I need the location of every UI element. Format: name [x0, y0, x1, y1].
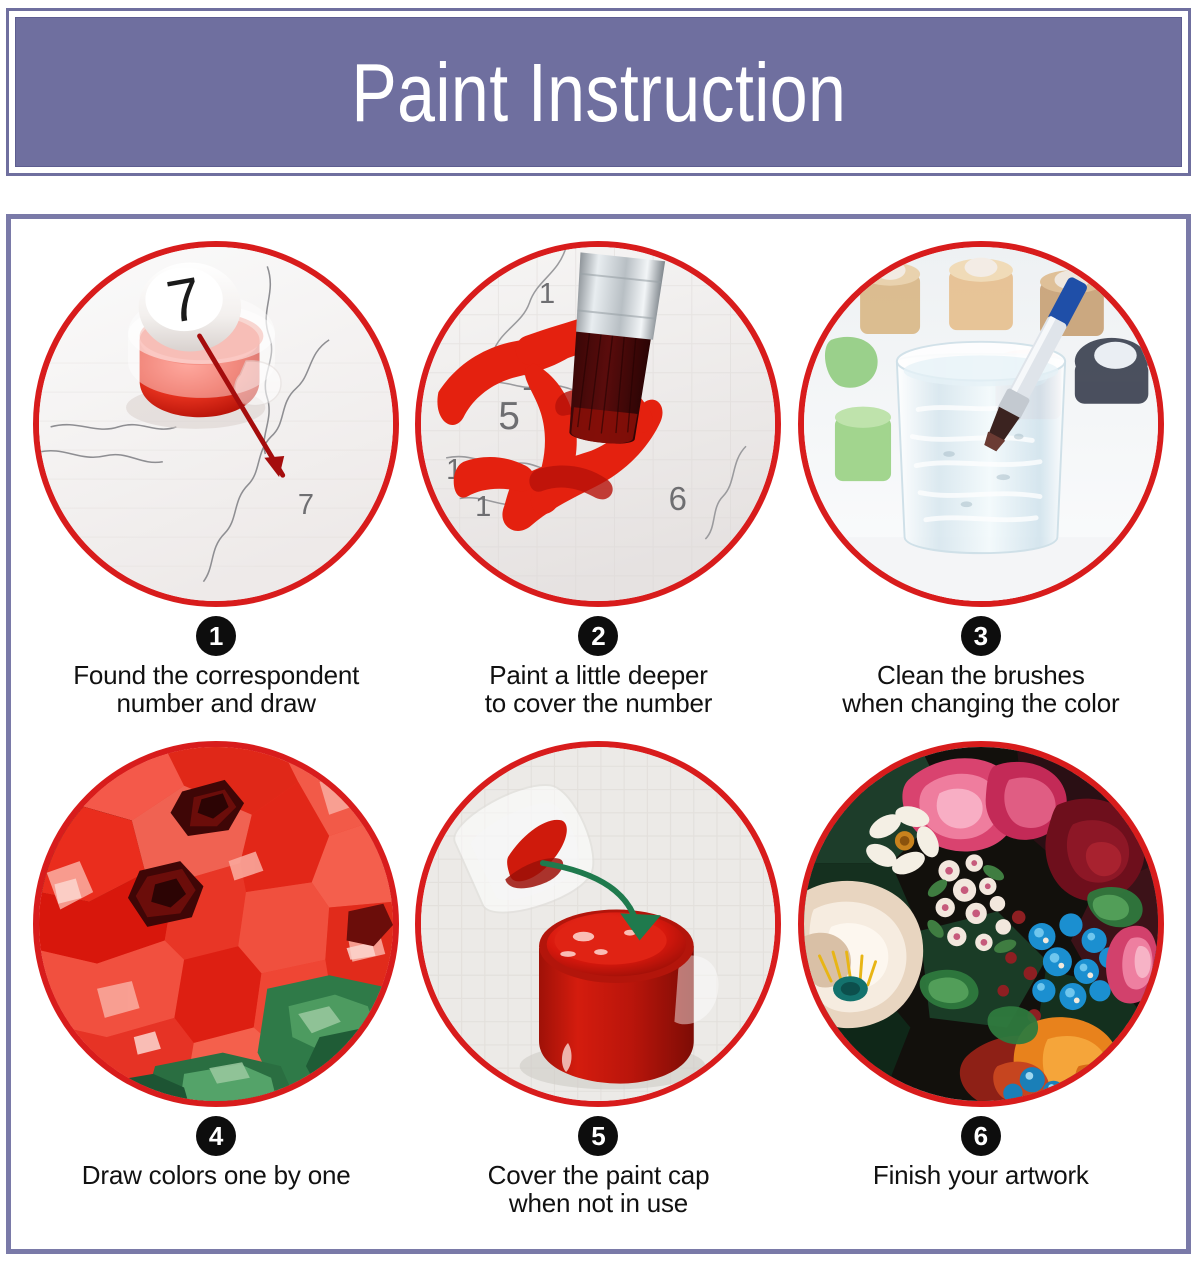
step-1-photo: 7 7 [33, 241, 399, 607]
brush-rinsing-in-glass-of-water-illustration [804, 247, 1158, 601]
header-banner: Paint Instruction [6, 8, 1191, 176]
step-6-badge: 6 [961, 1116, 1001, 1156]
svg-text:7: 7 [298, 489, 314, 521]
step-2-photo: 1 1 5 1 1 6 [415, 241, 781, 607]
step-1-caption: Found the correspondent number and draw [69, 661, 363, 717]
step-3-photo [798, 241, 1164, 607]
step-1-badge: 1 [196, 616, 236, 656]
step-item-3: 3 Clean the brushes when changing the co… [790, 241, 1172, 741]
step-6-caption: Finish your artwork [869, 1161, 1093, 1189]
instruction-panel: 7 7 1 Found the correspondent number and… [6, 214, 1191, 1254]
step-2-caption: Paint a little deeper to cover the numbe… [481, 661, 716, 717]
step-5-caption: Cover the paint cap when not in use [484, 1161, 714, 1217]
step-item-5: 5 Cover the paint cap when not in use [407, 741, 789, 1241]
step-item-6: 6 Finish your artwork [790, 741, 1172, 1241]
step-4-badge: 4 [196, 1116, 236, 1156]
step-item-2: 1 1 5 1 1 6 [407, 241, 789, 741]
step-5-photo [415, 741, 781, 1107]
header-banner-inner: Paint Instruction [15, 17, 1182, 167]
step-item-4: 4 Draw colors one by one [25, 741, 407, 1241]
paint-pot-with-number-7-and-arrow-to-canvas-illustration: 7 7 [39, 247, 393, 601]
step-4-caption: Draw colors one by one [78, 1161, 355, 1189]
steps-grid: 7 7 1 Found the correspondent number and… [11, 219, 1186, 1249]
red-poppy-painting-closeup-illustration [39, 747, 393, 1101]
brush-painting-red-over-numbered-canvas-illustration: 1 1 5 1 1 6 [421, 247, 775, 601]
finished-floral-painting-illustration [804, 747, 1158, 1101]
svg-text:1: 1 [476, 491, 492, 523]
step-4-photo [33, 741, 399, 1107]
open-paint-pot-with-green-arrow-to-cap-illustration [421, 747, 775, 1101]
step-3-caption: Clean the brushes when changing the colo… [838, 661, 1123, 717]
step-6-photo [798, 741, 1164, 1107]
step-item-1: 7 7 1 Found the correspondent number and… [25, 241, 407, 741]
svg-text:5: 5 [499, 395, 521, 438]
page-title: Paint Instruction [351, 51, 846, 134]
step-2-badge: 2 [578, 616, 618, 656]
svg-text:6: 6 [669, 480, 687, 517]
step-3-badge: 3 [961, 616, 1001, 656]
svg-text:1: 1 [539, 278, 555, 310]
step-5-badge: 5 [578, 1116, 618, 1156]
